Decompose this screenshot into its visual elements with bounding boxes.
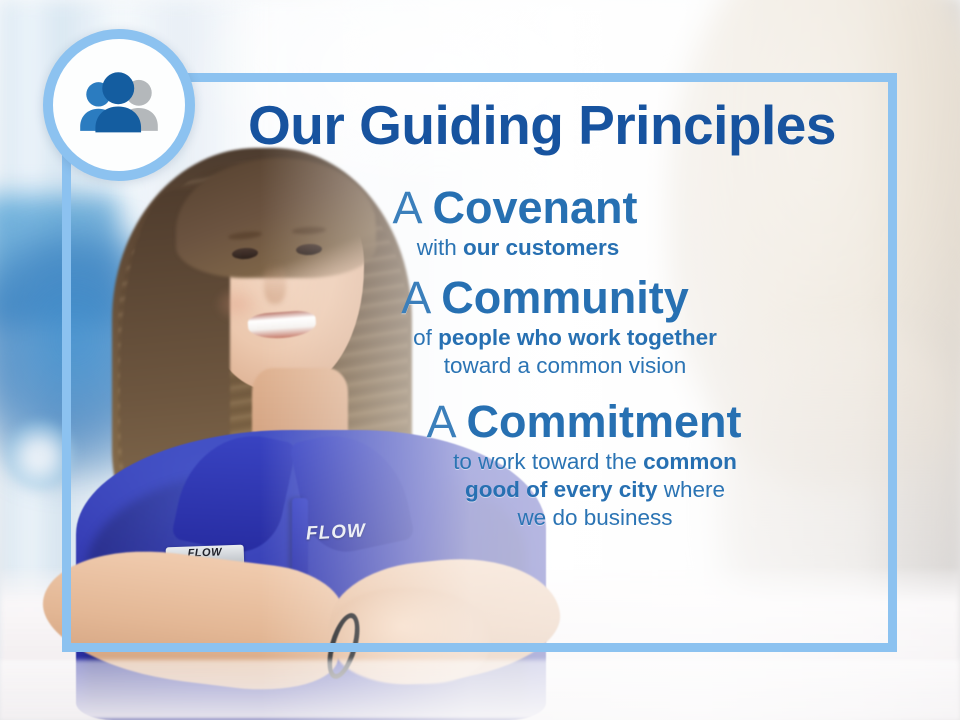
principle-description-line: toward a common vision (240, 352, 890, 380)
principle-description: to work toward the commongood of every c… (200, 448, 890, 532)
text-emphasis: our customers (463, 235, 619, 260)
text-plain: to work toward the (453, 449, 643, 474)
principle-1: A Communityof people who work togetherto… (200, 272, 890, 380)
principle-keyword: Covenant (433, 182, 638, 233)
text-plain: where (658, 477, 726, 502)
text-plain: with (417, 235, 463, 260)
principle-article: A (401, 272, 441, 323)
principle-article: A (392, 182, 432, 233)
principle-0: A Covenantwith our customers (200, 182, 890, 262)
text-plain: we do business (517, 505, 672, 530)
principles-list: A Covenantwith our customersA Communityo… (200, 182, 890, 538)
text-emphasis: good of every city (465, 477, 658, 502)
principle-description: with our customers (200, 234, 890, 262)
principle-keyword: Community (441, 272, 689, 323)
principle-description: of people who work togethertoward a comm… (200, 324, 890, 380)
principle-description-line: we do business (300, 504, 890, 532)
page-title: Our Guiding Principles (212, 96, 872, 154)
principle-description-line: to work toward the common (300, 448, 890, 476)
people-badge (43, 29, 195, 181)
text-plain: toward a common vision (444, 353, 687, 378)
promotional-banner: FLOW Automotive FLOW Our Guiding Princip… (0, 0, 960, 720)
principle-title: A Covenant (200, 182, 890, 234)
principle-2: A Commitmentto work toward the commongoo… (200, 396, 890, 532)
principle-article: A (426, 396, 466, 447)
people-group-icon (73, 70, 165, 140)
text-emphasis: people who work together (438, 325, 717, 350)
text-emphasis: common (643, 449, 737, 474)
principle-description-line: with our customers (200, 234, 836, 262)
principle-title: A Community (200, 272, 890, 324)
principle-description-line: good of every city where (300, 476, 890, 504)
text-plain: of (413, 325, 438, 350)
principle-title: A Commitment (200, 396, 890, 448)
principle-keyword: Commitment (467, 396, 742, 447)
principle-description-line: of people who work together (240, 324, 890, 352)
